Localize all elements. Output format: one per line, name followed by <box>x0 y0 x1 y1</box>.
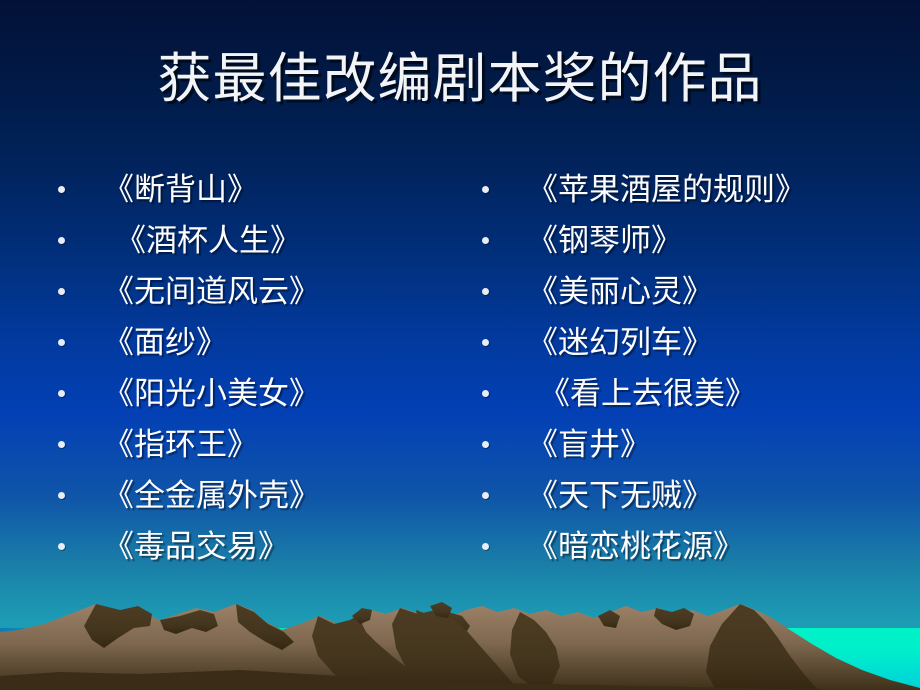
bullet-dot-icon <box>482 441 489 448</box>
bullet-item-label: 《苹果酒屋的规则》 <box>527 171 806 209</box>
bullet-dot-icon <box>482 543 489 550</box>
bullet-item-label: 《面纱》 <box>103 324 227 362</box>
bullet-item[interactable]: 《看上去很美》 <box>470 368 900 419</box>
bullet-dot-icon <box>58 288 65 295</box>
bullet-dot-icon <box>58 186 65 193</box>
bullet-item[interactable]: 《美丽心灵》 <box>470 266 900 317</box>
bullet-item-label: 《指环王》 <box>103 426 258 464</box>
bullet-dot-icon <box>58 543 65 550</box>
bullet-item[interactable]: 《毒品交易》 <box>46 521 466 572</box>
bullet-dot-icon <box>58 339 65 346</box>
bullet-item-label: 《全金属外壳》 <box>103 477 320 515</box>
bullet-item[interactable]: 《盲井》 <box>470 419 900 470</box>
bullet-item[interactable]: 《面纱》 <box>46 317 466 368</box>
slide-title: 获最佳改编剧本奖的作品 <box>0 46 920 112</box>
bullet-item[interactable]: 《无间道风云》 <box>46 266 466 317</box>
bullet-item-label: 《暗恋桃花源》 <box>527 528 744 566</box>
bullet-item-label: 《看上去很美》 <box>539 375 756 413</box>
presentation-slide: 获最佳改编剧本奖的作品 《断背山》《酒杯人生》《无间道风云》《面纱》《阳光小美女… <box>0 0 920 690</box>
bullet-dot-icon <box>58 492 65 499</box>
mountain-range-illustration <box>0 580 920 690</box>
bullet-dot-icon <box>482 288 489 295</box>
bullet-dot-icon <box>482 237 489 244</box>
bullet-list-right: 《苹果酒屋的规则》《钢琴师》《美丽心灵》《迷幻列车》《看上去很美》《盲井》《天下… <box>470 164 900 572</box>
bullet-item[interactable]: 《全金属外壳》 <box>46 470 466 521</box>
bullet-item[interactable]: 《迷幻列车》 <box>470 317 900 368</box>
bullet-item[interactable]: 《天下无贼》 <box>470 470 900 521</box>
bullet-item-label: 《天下无贼》 <box>527 477 713 515</box>
bullet-item[interactable]: 《酒杯人生》 <box>46 215 466 266</box>
bullet-dot-icon <box>482 339 489 346</box>
bullet-item-label: 《钢琴师》 <box>527 222 682 260</box>
bullet-item-label: 《酒杯人生》 <box>115 222 301 260</box>
bullet-list-left: 《断背山》《酒杯人生》《无间道风云》《面纱》《阳光小美女》《指环王》《全金属外壳… <box>46 164 466 572</box>
bullet-item-label: 《毒品交易》 <box>103 528 289 566</box>
bullet-item-label: 《断背山》 <box>103 171 258 209</box>
bullet-item-label: 《无间道风云》 <box>103 273 320 311</box>
bullet-item[interactable]: 《钢琴师》 <box>470 215 900 266</box>
bullet-item[interactable]: 《苹果酒屋的规则》 <box>470 164 900 215</box>
bullet-dot-icon <box>482 390 489 397</box>
bullet-dot-icon <box>482 186 489 193</box>
bullet-item[interactable]: 《暗恋桃花源》 <box>470 521 900 572</box>
bullet-dot-icon <box>58 390 65 397</box>
bullet-item-label: 《阳光小美女》 <box>103 375 320 413</box>
bullet-item[interactable]: 《阳光小美女》 <box>46 368 466 419</box>
bullet-item-label: 《迷幻列车》 <box>527 324 713 362</box>
bullet-item-label: 《盲井》 <box>527 426 651 464</box>
bullet-dot-icon <box>482 492 489 499</box>
bullet-item[interactable]: 《指环王》 <box>46 419 466 470</box>
bullet-item-label: 《美丽心灵》 <box>527 273 713 311</box>
bullet-item[interactable]: 《断背山》 <box>46 164 466 215</box>
bullet-dot-icon <box>58 441 65 448</box>
bullet-dot-icon <box>58 237 65 244</box>
